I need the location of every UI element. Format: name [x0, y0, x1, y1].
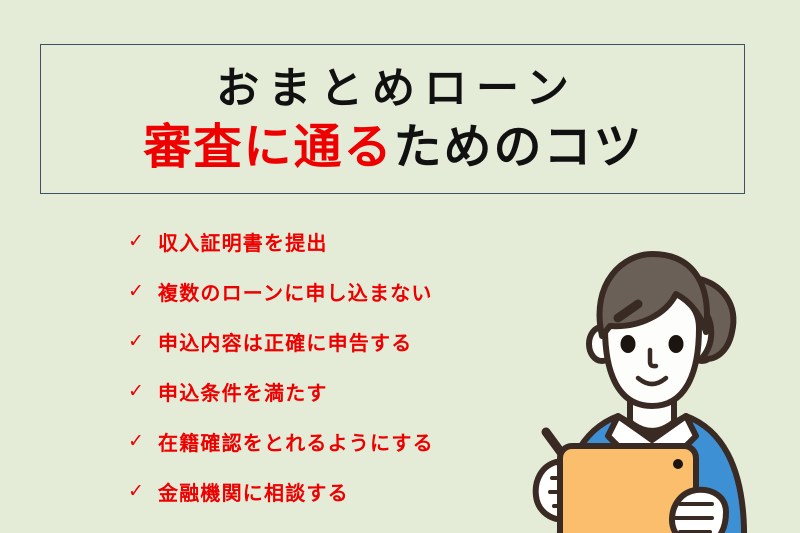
check-icon: ✓: [128, 382, 158, 401]
list-item: ✓ 収入証明書を提出: [128, 216, 508, 266]
check-icon: ✓: [128, 482, 158, 501]
title-accent-text: 審査に通る: [143, 119, 393, 175]
list-item: ✓ 申込内容は正確に申告する: [128, 316, 508, 366]
list-item-label: 複数のローンに申し込まない: [158, 277, 433, 306]
list-item-label: 申込条件を満たす: [158, 377, 328, 406]
list-item: ✓ 金融機関に相談する: [128, 466, 508, 516]
title-plain-text: ためのコツ: [394, 119, 644, 175]
list-item: ✓ 在籍確認をとれるようにする: [128, 416, 508, 466]
hand-right: [672, 490, 726, 533]
eye-left: [621, 335, 636, 353]
check-icon: ✓: [128, 332, 158, 351]
woman-with-tablet-illustration: [500, 240, 800, 533]
check-icon: ✓: [128, 282, 158, 301]
list-item-label: 在籍確認をとれるようにする: [158, 427, 434, 456]
check-icon: ✓: [128, 232, 158, 251]
list-item-label: 金融機関に相談する: [158, 477, 349, 506]
eye-right: [669, 335, 684, 353]
title-line-primary: おまとめローン: [207, 68, 578, 111]
list-item-label: 収入証明書を提出: [158, 227, 328, 256]
title-box: おまとめローン 審査に通るためのコツ: [40, 44, 745, 194]
list-item: ✓ 申込条件を満たす: [128, 366, 508, 416]
illustration-svg: [500, 240, 800, 533]
title-line-secondary: 審査に通るためのコツ: [141, 123, 643, 171]
checklist: ✓ 収入証明書を提出 ✓ 複数のローンに申し込まない ✓ 申込内容は正確に申告す…: [128, 216, 508, 516]
list-item-label: 申込内容は正確に申告する: [158, 327, 412, 356]
poster-canvas: おまとめローン 審査に通るためのコツ ✓ 収入証明書を提出 ✓ 複数のローンに申…: [0, 0, 800, 533]
check-icon: ✓: [128, 432, 158, 451]
tablet-camera-icon: [673, 459, 683, 469]
list-item: ✓ 複数のローンに申し込まない: [128, 266, 508, 316]
